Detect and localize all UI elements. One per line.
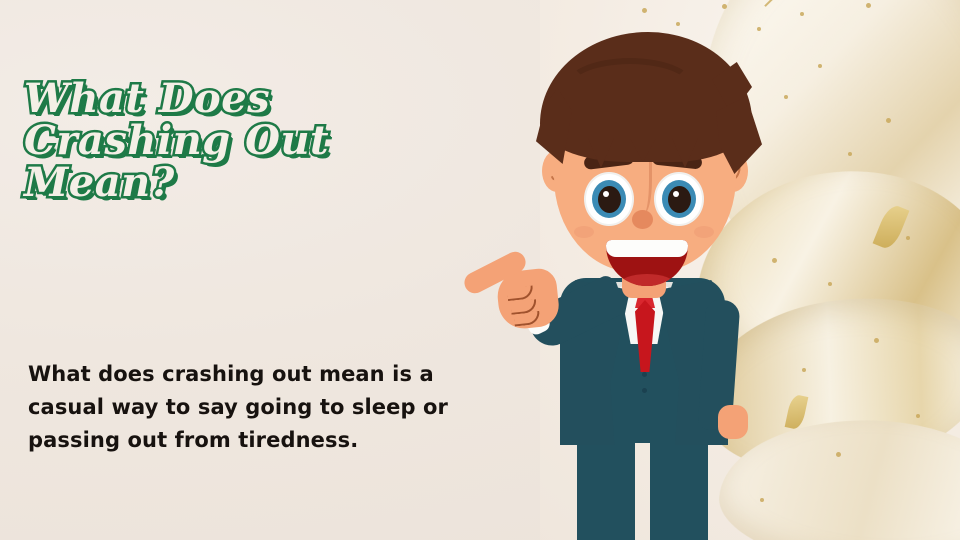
tongue xyxy=(620,274,674,286)
pupil-right xyxy=(668,186,691,213)
knuckle-line-3 xyxy=(513,311,540,327)
gold-dot-17 xyxy=(836,452,841,457)
cartoon-boy-illustration xyxy=(480,0,820,540)
teeth xyxy=(606,240,688,257)
gold-dot-10 xyxy=(848,152,852,156)
hand-right xyxy=(718,405,748,439)
title-line-1: What Does xyxy=(24,78,444,120)
cheek-right xyxy=(694,226,714,238)
iris-right xyxy=(662,180,696,218)
gold-dot-6 xyxy=(866,3,871,8)
slide-canvas: What Does Crashing Out Mean? What does c… xyxy=(0,0,960,540)
title-line-3: Mean? xyxy=(24,162,444,204)
eye-highlight-left xyxy=(603,191,609,197)
eye-highlight-right xyxy=(673,191,679,197)
gold-dot-14 xyxy=(874,338,879,343)
jacket-button-1 xyxy=(642,372,647,377)
page-title: What Does Crashing Out Mean? xyxy=(24,78,444,204)
hair-swoop-line xyxy=(564,58,696,118)
iris-left xyxy=(592,180,626,218)
body-paragraph: What does crashing out mean is a casual … xyxy=(28,358,458,457)
cheek-left xyxy=(574,226,594,238)
eye-left xyxy=(586,174,632,224)
gold-dot-16 xyxy=(916,414,920,418)
gold-dot-9 xyxy=(886,118,891,123)
nose xyxy=(632,210,653,229)
gold-dot-12 xyxy=(906,236,910,240)
jacket-button-2 xyxy=(642,388,647,393)
eye-right xyxy=(656,174,702,224)
pupil-left xyxy=(598,186,621,213)
gold-dot-13 xyxy=(828,282,832,286)
title-line-2: Crashing Out xyxy=(24,120,444,162)
